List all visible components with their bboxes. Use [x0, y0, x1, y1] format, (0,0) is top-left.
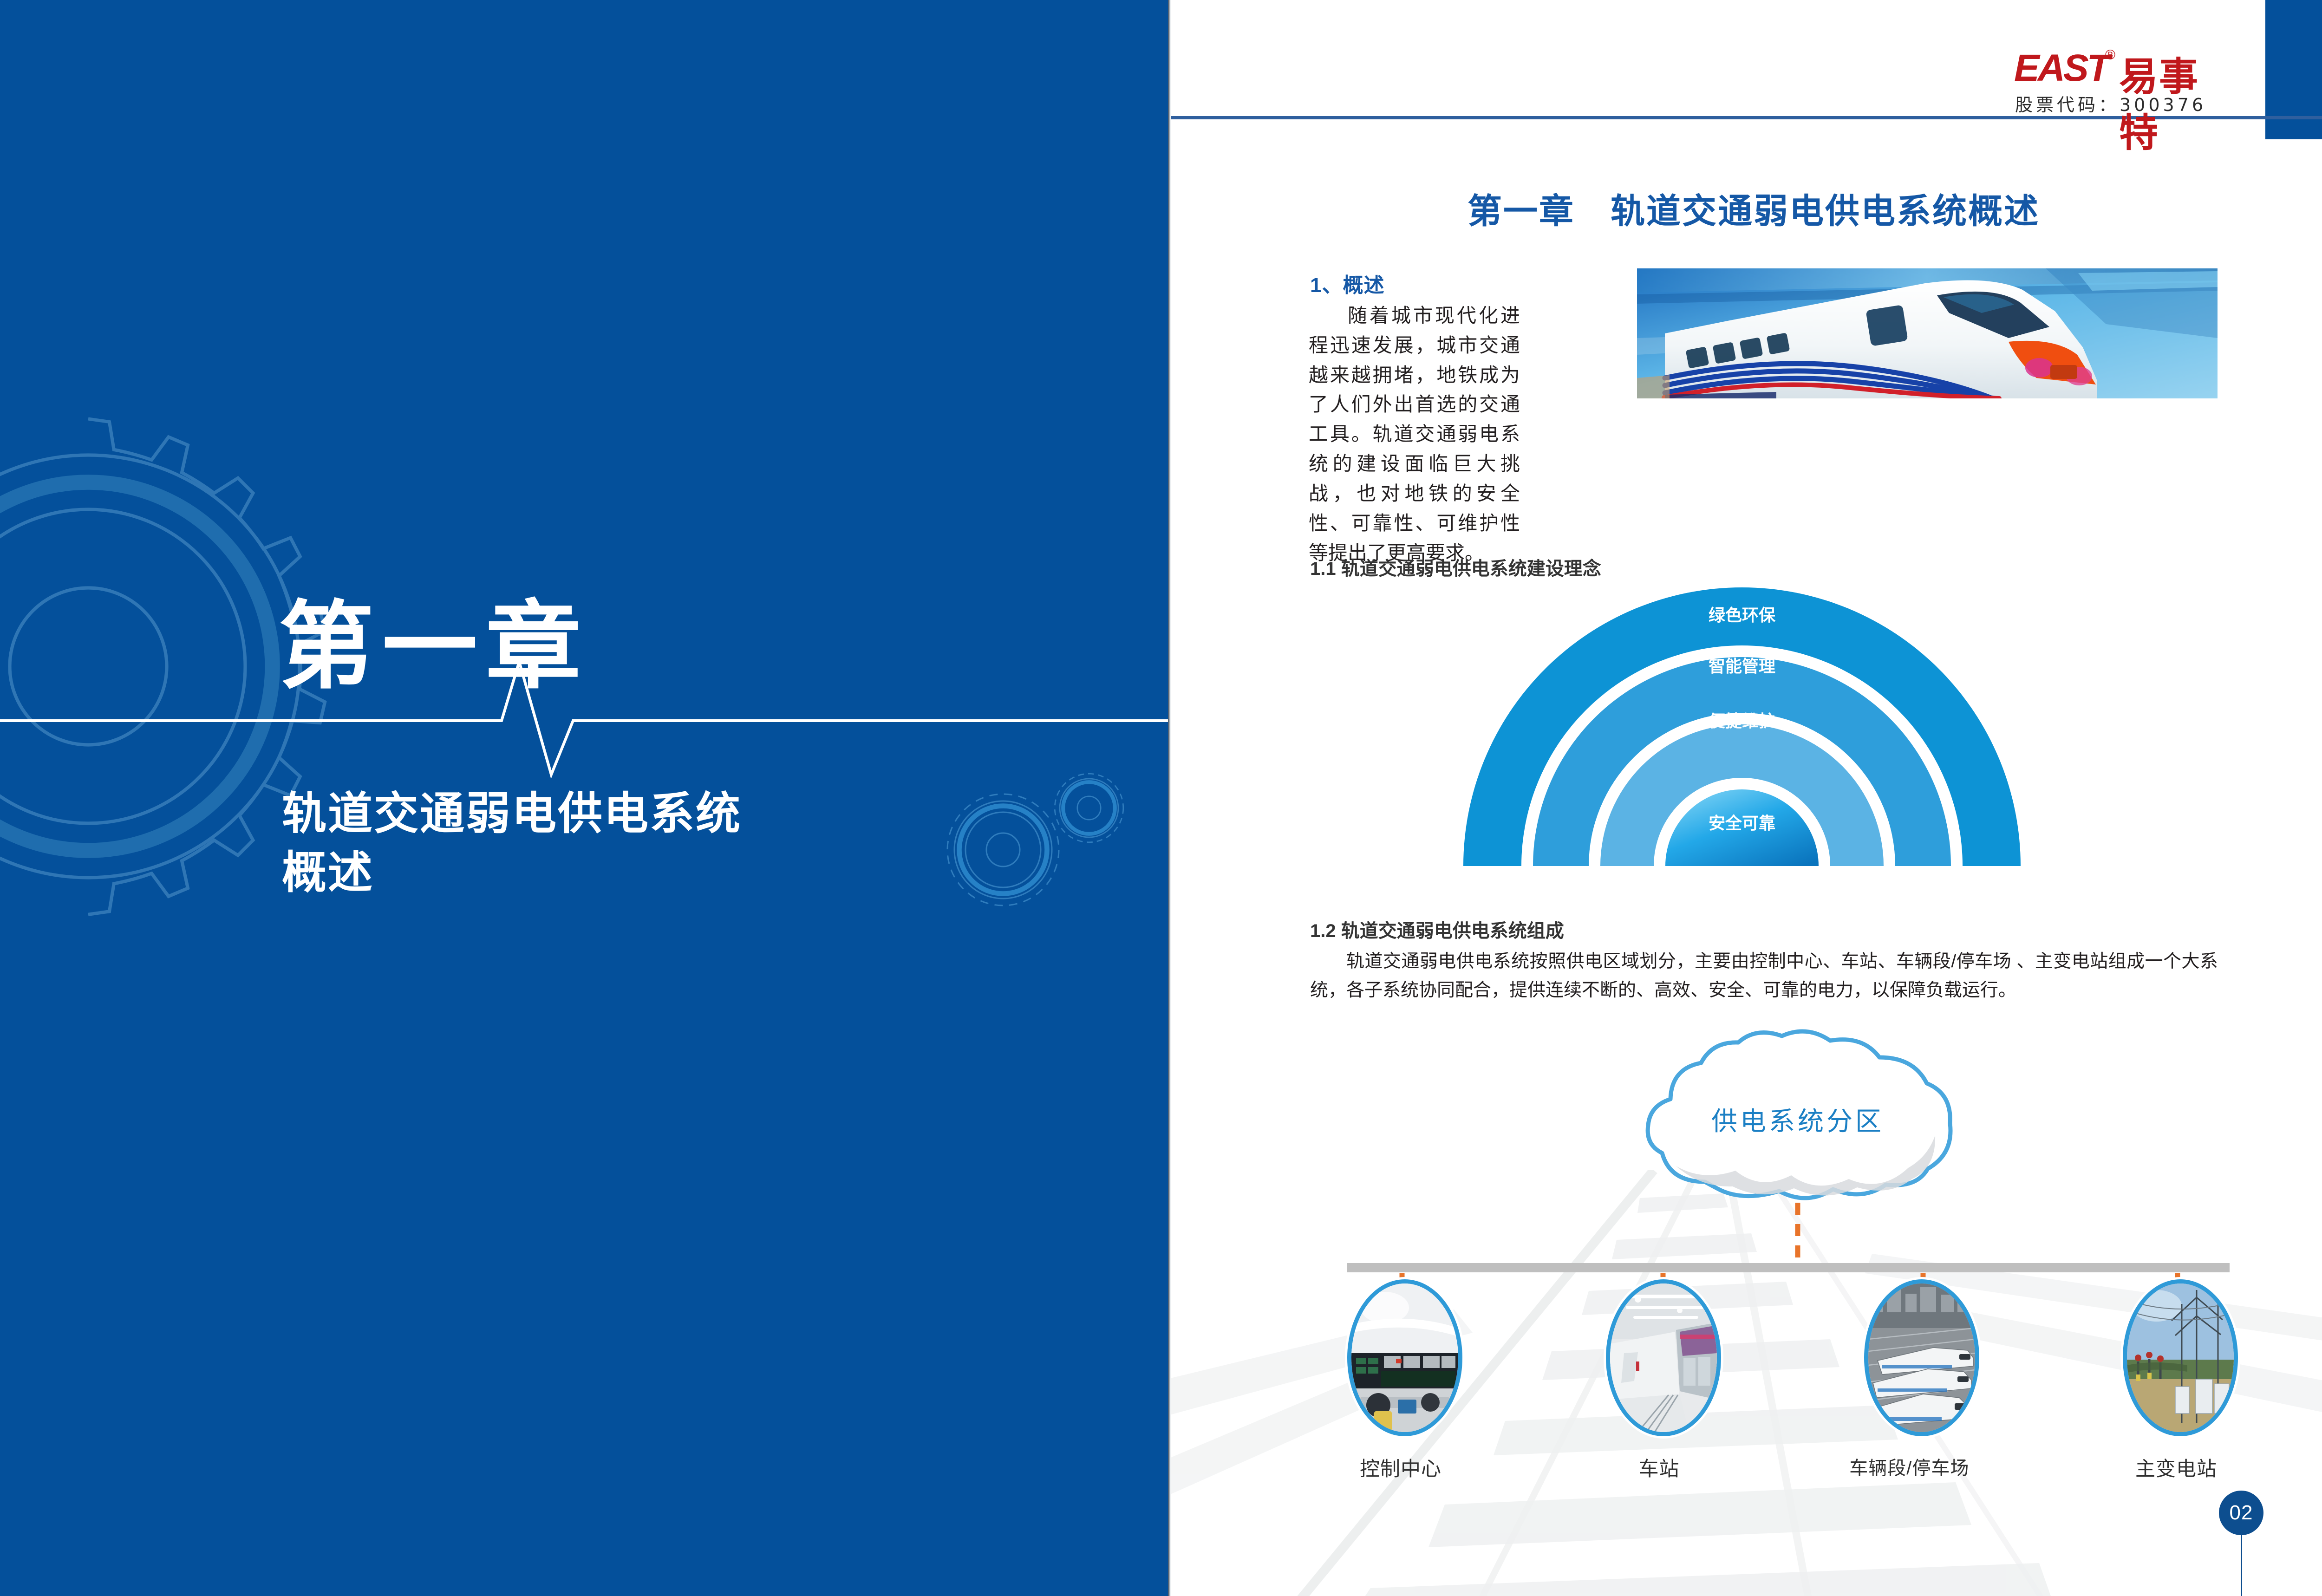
zone-label: 控制中心	[1347, 1453, 1454, 1482]
section-1-1-heading: 1.1 轨道交通弱电供电系统建设理念	[1310, 554, 1601, 580]
zone-label: 主变电站	[2123, 1453, 2230, 1482]
chapter-subtitle: 轨道交通弱电供电系统概述	[282, 785, 978, 902]
arch-label-1: 绿色环保	[1709, 606, 1776, 625]
stock-code-label: 股票代码：300376	[2015, 91, 2206, 116]
zone-label: 车站	[1606, 1453, 1713, 1482]
high-speed-train-photo	[1637, 268, 2218, 398]
zone-label: 车辆段/停车场	[1847, 1453, 1971, 1480]
zone-node-depot[interactable]: 车辆段/停车场	[1864, 1279, 1971, 1502]
page-number-badge: 02	[2219, 1491, 2263, 1535]
chapter-cover-panel: 第一章 轨道交通弱电供电系统概述	[0, 0, 1168, 1596]
content-page: EAST ® 易事特 股票代码：300376 第一章 轨道交通弱电供电系统概述 …	[1171, 0, 2322, 1596]
control-center-photo	[1347, 1279, 1462, 1436]
page-number-stem	[2241, 1535, 2242, 1596]
zone-node-control-center[interactable]: 控制中心	[1347, 1279, 1454, 1502]
zone-node-substation[interactable]: 主变电站	[2123, 1279, 2230, 1502]
section-1-heading: 1、概述	[1310, 268, 1384, 298]
registered-trademark-icon: ®	[2105, 47, 2115, 63]
east-logo: EAST ® 易事特 股票代码：300376	[2014, 46, 2232, 111]
metro-station-photo	[1606, 1279, 1721, 1436]
depot-yard-photo	[1864, 1279, 1979, 1436]
arch-label-2: 智能管理	[1709, 657, 1775, 676]
chapter-number: 第一章	[279, 599, 589, 694]
arch-label-3: 便捷维护	[1709, 711, 1775, 730]
logo-east-wordmark: EAST	[2014, 46, 2108, 90]
section-1-2-heading: 1.2 轨道交通弱电供电系统组成	[1310, 916, 1564, 943]
substation-photo	[2123, 1279, 2238, 1436]
zone-node-station[interactable]: 车站	[1606, 1279, 1713, 1502]
cloud-label: 供电系统分区	[1621, 1101, 1974, 1138]
page-title: 第一章 轨道交通弱电供电系统概述	[1171, 183, 2322, 233]
distribution-bar	[1347, 1263, 2230, 1272]
section-1-body: 随着城市现代化进程迅速发展，城市交通越来越拥堵，地铁成为了人们外出首选的交通工具…	[1309, 301, 1520, 567]
section-1-2-body: 轨道交通弱电供电系统按照供电区域划分，主要由控制中心、车站、车辆段/停车场 、主…	[1310, 947, 2218, 1004]
zone-node-row: 控制中心	[1347, 1279, 2230, 1502]
arch-label-4: 安全可靠	[1709, 814, 1775, 833]
concept-arch-diagram: 绿色环保 智能管理 便捷维护 安全可靠	[1459, 583, 2025, 866]
